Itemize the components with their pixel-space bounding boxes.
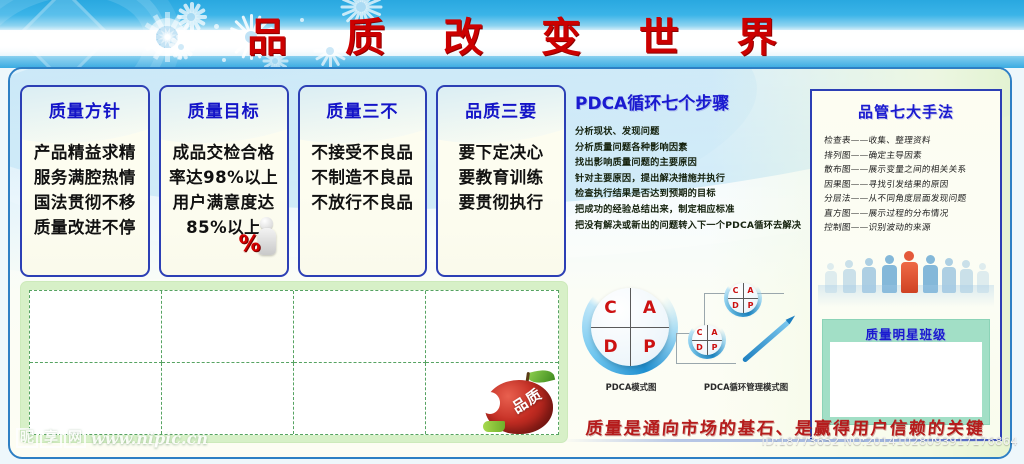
tool-line: 检查表——收集、整理资料 <box>823 134 1001 149</box>
pdca-wheel-large: C A D P <box>582 279 678 375</box>
pdca-quad-a: A <box>630 288 669 327</box>
card-title: 品质三要 <box>438 97 564 122</box>
pdca-steps-section: PDCA循环七个步骤 分析现状、发现问题 分析质量问题各种影响因素 找出影响质量… <box>575 89 805 233</box>
pdca-disc: C A D P <box>591 288 669 366</box>
watermark: 昵 享 网 www.nipic.cn <box>16 428 208 448</box>
grid-cell[interactable] <box>30 291 162 363</box>
card-title: 质量目标 <box>161 97 287 122</box>
card-line: 不制造不良品 <box>300 165 426 190</box>
pdca-step: 检查执行结果是否达到预期的目标 <box>575 186 805 202</box>
pdca-wheel-small-bottom: C A D P <box>688 321 726 359</box>
card-line: 要教育训练 <box>438 165 564 190</box>
card-body: 不接受不良品 不制造不良品 不放行不良品 <box>300 140 426 215</box>
grid-cell[interactable] <box>162 363 294 435</box>
star-class-title: 质量明星班级 <box>823 320 989 343</box>
upward-arrow-icon <box>742 320 791 363</box>
notice-grid <box>29 290 559 435</box>
pdca-step: 把成功的经验总结出来，制定相应标准 <box>575 202 805 218</box>
watermark-char: 享 <box>40 428 62 448</box>
pdca-step: 找出影响质量问题的主要原因 <box>575 155 805 171</box>
pdca-quad-c: C <box>692 325 707 340</box>
apple-bite <box>480 392 500 414</box>
card-title: 质量方针 <box>22 97 148 122</box>
watermark-url: www.nipic.cn <box>91 429 208 448</box>
watermark-char: 昵 <box>16 428 38 448</box>
diagram-caption-1: PDCA模式图 <box>576 381 686 393</box>
tool-line: 直方图——展示过程的分布情况 <box>823 207 1001 222</box>
pdca-step-list: 分析现状、发现问题 分析质量问题各种影响因素 找出影响质量问题的主要原因 针对主… <box>575 124 805 233</box>
grid-cell[interactable] <box>294 363 426 435</box>
card-quality-three-musts: 品质三要 要下定决心 要教育训练 要贯彻执行 <box>436 85 566 277</box>
card-line: 要下定决心 <box>438 140 564 165</box>
pdca-quad-c: C <box>728 283 743 298</box>
pdca-quad-d: D <box>728 298 743 313</box>
main-board: 质量方针 产品精益求精 服务满腔热情 国法贯彻不移 质量改进不停 质量目标 成品… <box>8 67 1012 459</box>
pdca-quad-p: P <box>707 340 722 355</box>
header-banner: 品 质 改 变 世 界 <box>0 0 1024 68</box>
pdca-diagrams: C A D P PDCA模式图 C <box>576 277 806 437</box>
watermark-char: 网 <box>64 428 86 448</box>
card-line: 率达98%以上 <box>161 165 287 190</box>
pdca-step: 分析现状、发现问题 <box>575 124 805 140</box>
poster-root: 品 质 改 变 世 界 质量方针 产品精益求精 服务满腔热情 国法贯彻不移 质量… <box>0 0 1024 464</box>
tool-line: 控制图——识别波动的来源 <box>823 221 1001 236</box>
diagram-connector <box>676 333 677 363</box>
apple-quality-icon: 品质 <box>481 368 557 434</box>
seven-tools-list: 检查表——收集、整理资料 排列图——确定主导因素 散布图——展示变量之间的相关关… <box>824 134 1000 236</box>
grid-cell[interactable] <box>30 363 162 435</box>
pdca-quadrants: C A D P <box>591 288 669 366</box>
card-quality-policy: 质量方针 产品精益求精 服务满腔热情 国法贯彻不移 质量改进不停 <box>20 85 150 277</box>
team-people-icon <box>818 243 994 307</box>
pdca-wheel-small-top: C A D P <box>724 279 762 317</box>
image-id-text: ID:18773652 NO:20141028093917176864 <box>762 434 1018 448</box>
star-class-content-area[interactable] <box>830 342 982 417</box>
pdca-quad-p: P <box>630 327 669 366</box>
card-line: 国法贯彻不移 <box>22 190 148 215</box>
card-line: 要贯彻执行 <box>438 190 564 215</box>
pdca-quad-a: A <box>743 283 758 298</box>
star-class-box: 质量明星班级 <box>822 319 990 425</box>
pdca-disc: C A D P <box>692 325 722 355</box>
tool-line: 分层法——从不同角度层面发现问题 <box>823 192 1001 207</box>
pdca-quad-c: C <box>591 288 630 327</box>
card-line: 质量改进不停 <box>22 215 148 240</box>
card-quality-three-nots: 质量三不 不接受不良品 不制造不良品 不放行不良品 <box>298 85 428 277</box>
notice-grid-area: 品质 <box>20 281 568 443</box>
card-line: 不接受不良品 <box>300 140 426 165</box>
watermark-logo: 昵 享 网 <box>16 428 86 448</box>
pdca-section-title: PDCA循环七个步骤 <box>575 89 805 114</box>
worm-icon <box>483 421 505 432</box>
card-title: 质量三不 <box>300 97 426 122</box>
person-figure-leader <box>900 251 918 293</box>
card-quality-objectives: 质量目标 成品交检合格 率达98%以上 用户满意度达 85%以上 % <box>159 85 289 277</box>
card-body: 要下定决心 要教育训练 要贯彻执行 <box>438 140 564 215</box>
diagram-connector <box>676 363 736 364</box>
pdca-quadrants: C A D P <box>728 283 758 313</box>
seven-tools-panel: 品管七大手法 检查表——收集、整理资料 排列图——确定主导因素 散布图——展示变… <box>810 89 1002 441</box>
pdca-step: 分析质量问题各种影响因素 <box>575 140 805 156</box>
tool-line: 排列图——确定主导因素 <box>823 149 1001 164</box>
card-body: 产品精益求精 服务满腔热情 国法贯彻不移 质量改进不停 <box>22 140 148 240</box>
card-line: 用户满意度达 <box>161 190 287 215</box>
pdca-disc: C A D P <box>728 283 758 313</box>
diagram-caption-2: PDCA循环管理模式图 <box>686 381 806 393</box>
tool-line: 因果图——寻找引发结果的原因 <box>823 178 1001 193</box>
grid-cell[interactable] <box>162 291 294 363</box>
card-line: 服务满腔热情 <box>22 165 148 190</box>
grid-cell[interactable] <box>294 291 426 363</box>
percent-man-icon: % <box>239 217 281 257</box>
pdca-quad-d: D <box>692 340 707 355</box>
pdca-step: 把没有解决或新出的问题转入下一个PDCA循环去解决 <box>575 218 805 234</box>
card-line: 不放行不良品 <box>300 190 426 215</box>
card-line: 产品精益求精 <box>22 140 148 165</box>
pdca-step: 针对主要原因，提出解决措施并执行 <box>575 171 805 187</box>
pdca-quad-p: P <box>743 298 758 313</box>
tool-line: 散布图——展示变量之间的相关关系 <box>823 163 1001 178</box>
pdca-quad-a: A <box>707 325 722 340</box>
quality-cards: 质量方针 产品精益求精 服务满腔热情 国法贯彻不移 质量改进不停 质量目标 成品… <box>20 85 566 273</box>
page-title: 品 质 改 变 世 界 <box>0 4 1024 64</box>
panel-title: 品管七大手法 <box>812 101 1000 122</box>
card-line: 成品交检合格 <box>161 140 287 165</box>
grid-cell[interactable] <box>426 291 558 363</box>
pdca-quadrants: C A D P <box>692 325 722 355</box>
pdca-quad-d: D <box>591 327 630 366</box>
percent-symbol: % <box>239 232 261 257</box>
